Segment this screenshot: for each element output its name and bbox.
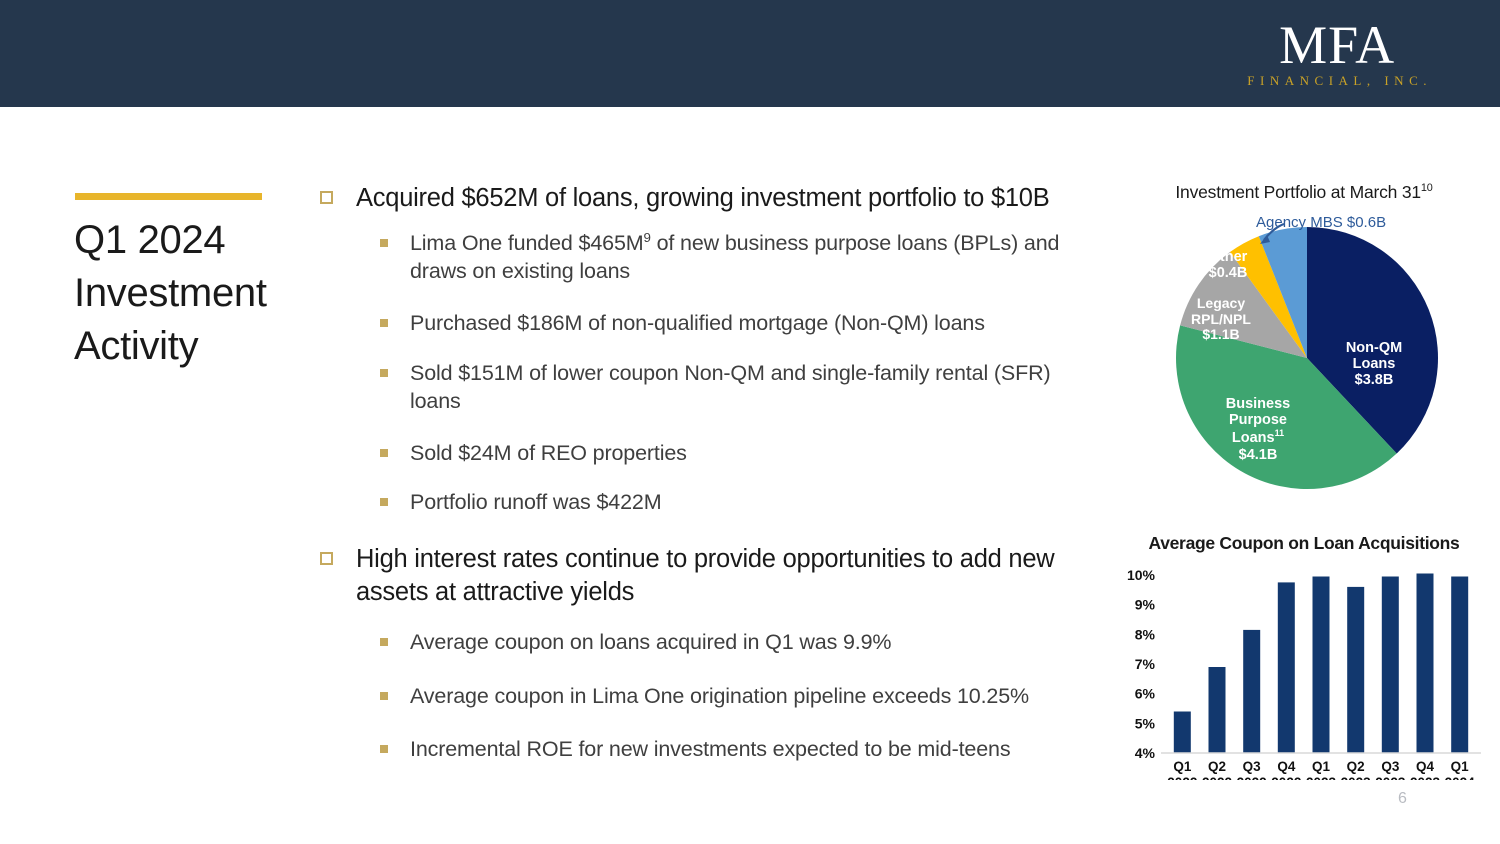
bar <box>1313 577 1330 754</box>
y-axis-tick-label: 6% <box>1135 686 1156 702</box>
bar-chart-svg: 4%5%6%7%8%9%10% Q12022Q22022Q32022Q42022… <box>1113 565 1485 780</box>
bullet-level2: Portfolio runoff was $422M <box>312 488 1092 517</box>
bar <box>1347 587 1364 753</box>
x-axis-tick-label-quarter: Q4 <box>1277 759 1296 774</box>
bullet-dot-icon <box>380 745 388 753</box>
page-title-line-3: Activity <box>74 320 314 373</box>
bullet-level2: Average coupon in Lima One origination p… <box>312 682 1092 711</box>
bullet-level2: Lima One funded $465M9 of new business p… <box>312 229 1092 286</box>
page-title: Q1 2024 Investment Activity <box>74 214 314 372</box>
bullet-text: Incremental ROE for new investments expe… <box>410 737 1010 761</box>
y-axis-tick-label: 8% <box>1135 626 1156 642</box>
x-axis-tick-label-quarter: Q3 <box>1381 759 1400 774</box>
bullet-dot-icon <box>380 692 388 700</box>
x-axis-tick-label-quarter: Q4 <box>1416 759 1435 774</box>
bullet-level2: Purchased $186M of non-qualified mortgag… <box>312 309 1092 338</box>
x-axis-tick-label-year: 2023 <box>1375 775 1406 780</box>
pie-label-agency-mbs: Agency MBS $0.6B <box>1256 214 1386 231</box>
x-axis-tick-label-year: 2024 <box>1445 775 1476 780</box>
bullet-list: Acquired $652M of loans, growing investm… <box>312 182 1092 785</box>
title-accent-rule <box>75 193 262 200</box>
x-axis-tick-label-year: 2023 <box>1410 775 1441 780</box>
x-axis-tick-label-year: 2022 <box>1202 775 1232 780</box>
x-axis-tick-label-year: 2022 <box>1237 775 1267 780</box>
bullet-text: Average coupon in Lima One origination p… <box>410 684 1029 708</box>
bar <box>1451 577 1468 754</box>
x-axis-tick-label-quarter: Q1 <box>1312 759 1331 774</box>
page-title-line-2: Investment <box>74 267 314 320</box>
x-axis-tick-label-quarter: Q1 <box>1173 759 1192 774</box>
bullet-text: Portfolio runoff was $422M <box>410 490 661 514</box>
bullet-text: Average coupon on loans acquired in Q1 w… <box>410 630 891 654</box>
bullet-text: Acquired $652M of loans, growing investm… <box>356 184 1050 212</box>
bullet-dot-icon <box>380 239 388 247</box>
bar-chart-title: Average Coupon on Loan Acquisitions <box>1124 533 1484 554</box>
bullet-square-icon <box>320 552 333 565</box>
x-axis-tick-label-year: 2023 <box>1306 775 1337 780</box>
bullet-level2: Average coupon on loans acquired in Q1 w… <box>312 628 1092 657</box>
bullet-square-icon <box>320 191 333 204</box>
bullet-level2: Sold $151M of lower coupon Non-QM and si… <box>312 359 1092 416</box>
bar <box>1174 712 1191 754</box>
bullet-dot-icon <box>380 319 388 327</box>
bullet-level2: Sold $24M of REO properties <box>312 439 1092 468</box>
mfa-logo: MFA FINANCIAL, INC. <box>1242 18 1432 87</box>
bullet-dot-icon <box>380 498 388 506</box>
bar-chart: 4%5%6%7%8%9%10% Q12022Q22022Q32022Q42022… <box>1113 565 1485 780</box>
bullet-level1: Acquired $652M of loans, growing investm… <box>312 182 1092 215</box>
y-axis-tick-label: 9% <box>1135 597 1156 613</box>
bar <box>1417 574 1434 754</box>
bullet-text: Lima One funded $465M <box>410 231 644 255</box>
bullet-text: Sold $151M of lower coupon Non-QM and si… <box>410 361 1050 414</box>
x-axis-tick-label-quarter: Q2 <box>1208 759 1226 774</box>
x-axis-tick-label-quarter: Q2 <box>1347 759 1365 774</box>
y-axis-tick-label: 7% <box>1135 656 1156 672</box>
pie-chart-title-text: Investment Portfolio at March 31 <box>1175 182 1421 202</box>
logo-wordmark: MFA <box>1242 18 1432 72</box>
x-axis-tick-label-year: 2023 <box>1341 775 1372 780</box>
bullet-text: Purchased $186M of non-qualified mortgag… <box>410 311 985 335</box>
footnote-ref: 9 <box>644 230 651 245</box>
bullet-level2: Incremental ROE for new investments expe… <box>312 735 1092 764</box>
x-axis-tick-label-quarter: Q1 <box>1451 759 1470 774</box>
bar <box>1209 667 1226 753</box>
bullet-text: High interest rates continue to provide … <box>356 545 1054 606</box>
bullet-text: Sold $24M of REO properties <box>410 441 687 465</box>
x-axis-tick-label-year: 2022 <box>1271 775 1301 780</box>
bullet-dot-icon <box>380 449 388 457</box>
y-axis-tick-label: 4% <box>1135 745 1156 761</box>
pie-chart <box>1176 216 1438 500</box>
page-number: 6 <box>1398 790 1407 808</box>
pie-chart-title: Investment Portfolio at March 3110 <box>1124 182 1484 203</box>
x-axis-tick-label-quarter: Q3 <box>1243 759 1262 774</box>
pie-chart-svg <box>1176 216 1438 500</box>
y-axis-tick-label: 10% <box>1127 567 1156 583</box>
bullet-level1: High interest rates continue to provide … <box>312 543 1092 608</box>
y-axis-tick-label: 5% <box>1135 715 1156 731</box>
bullet-dot-icon <box>380 638 388 646</box>
bullet-dot-icon <box>380 369 388 377</box>
x-axis-tick-label-year: 2022 <box>1167 775 1197 780</box>
bar <box>1243 630 1260 753</box>
bar <box>1278 582 1295 753</box>
logo-subtext: FINANCIAL, INC. <box>1242 74 1432 87</box>
page-title-line-1: Q1 2024 <box>74 214 314 267</box>
footnote-ref: 10 <box>1421 182 1433 194</box>
bar <box>1382 577 1399 754</box>
